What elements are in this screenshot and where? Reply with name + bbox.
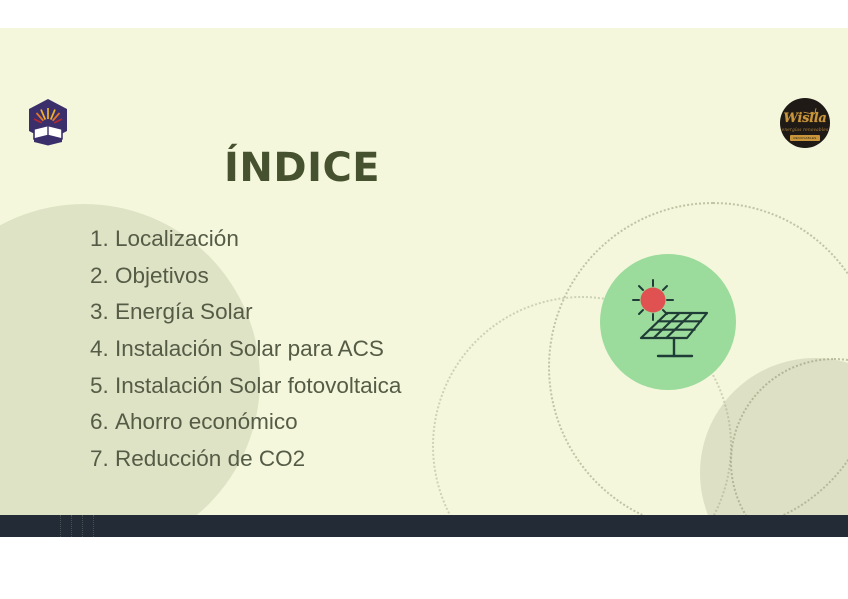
list-item-label: Ahorro económico xyxy=(115,404,298,441)
wislla-logo-text: Wislla xyxy=(783,112,826,125)
list-item-number: 3. xyxy=(90,294,115,331)
list-item[interactable]: 3. Energía Solar xyxy=(90,294,520,331)
list-item[interactable]: 6. Ahorro económico xyxy=(90,404,520,441)
footer-dot-column xyxy=(71,515,72,537)
list-item-label: Instalación Solar fotovoltaica xyxy=(115,368,401,405)
list-item-number: 4. xyxy=(90,331,115,368)
solar-panel-icon xyxy=(622,276,714,368)
index-list: 1. Localización 2. Objetivos 3. Energía … xyxy=(90,221,520,478)
list-item[interactable]: 5. Instalación Solar fotovoltaica xyxy=(90,368,520,405)
footer-dotted-lines xyxy=(60,515,106,537)
list-item[interactable]: 2. Objetivos xyxy=(90,258,520,295)
list-item-label: Objetivos xyxy=(115,258,209,295)
list-item-number: 6. xyxy=(90,404,115,441)
footer-dot-column xyxy=(93,515,94,537)
list-item-label: Instalación Solar para ACS xyxy=(115,331,384,368)
list-item-label: Reducción de CO2 xyxy=(115,441,305,478)
list-item-number: 1. xyxy=(90,221,115,258)
solar-panel-badge xyxy=(600,254,736,390)
list-item[interactable]: 4. Instalación Solar para ACS xyxy=(90,331,520,368)
list-item-number: 2. xyxy=(90,258,115,295)
slide-canvas: Wislla energías renovables RENOVABLES ÍN… xyxy=(0,0,848,599)
list-item[interactable]: 7. Reducción de CO2 xyxy=(90,441,520,478)
page-title: ÍNDICE xyxy=(224,148,380,188)
footer-bar xyxy=(0,515,848,537)
footer-dot-column xyxy=(60,515,61,537)
wislla-brand-logo: Wislla energías renovables RENOVABLES xyxy=(780,98,830,148)
presentation-slide: Wislla energías renovables RENOVABLES ÍN… xyxy=(0,28,848,537)
list-item-label: Localización xyxy=(115,221,239,258)
footer-dot-column xyxy=(82,515,83,537)
decorative-dotted-circle-small xyxy=(730,358,848,537)
list-item-label: Energía Solar xyxy=(115,294,253,331)
wislla-logo-tag: RENOVABLES xyxy=(790,135,819,141)
uco-shield-logo xyxy=(26,98,70,148)
list-item-number: 7. xyxy=(90,441,115,478)
decorative-circle-gray-bottom-right xyxy=(700,358,848,537)
wislla-logo-subtitle: energías renovables xyxy=(782,127,829,132)
list-item-number: 5. xyxy=(90,368,115,405)
list-item[interactable]: 1. Localización xyxy=(90,221,520,258)
